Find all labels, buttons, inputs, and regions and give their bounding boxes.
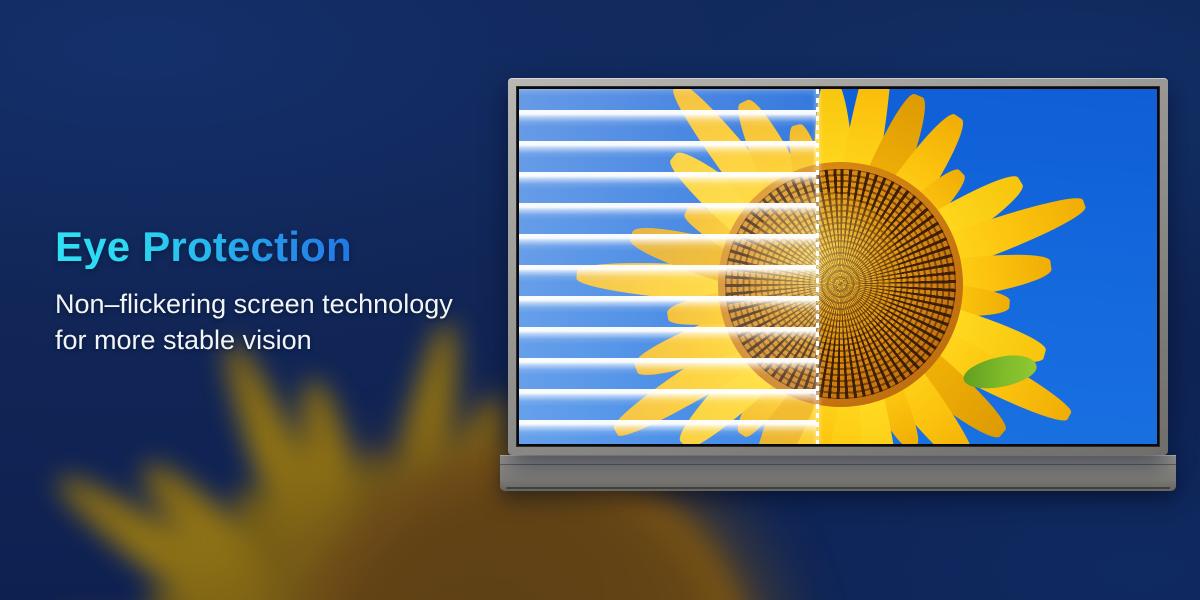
monitor-screen xyxy=(519,89,1157,444)
monitor xyxy=(508,78,1168,455)
eye-protection-banner: Eye Protection Non–flickering screen tec… xyxy=(0,0,1200,600)
monitor-bezel xyxy=(508,78,1168,455)
screen-flicker-half xyxy=(519,89,816,444)
subtitle-line-1: Non–flickering screen technology xyxy=(55,287,475,323)
monitor-base xyxy=(500,455,1176,491)
text-block: Eye Protection Non–flickering screen tec… xyxy=(55,224,475,359)
subtitle: Non–flickering screen technology for mor… xyxy=(55,287,475,358)
screen-split-divider xyxy=(816,89,819,444)
subtitle-line-2: for more stable vision xyxy=(55,323,475,359)
flicker-scanline-bands xyxy=(519,89,816,444)
page-title: Eye Protection xyxy=(55,224,475,269)
monitor-inner-frame xyxy=(516,86,1160,447)
